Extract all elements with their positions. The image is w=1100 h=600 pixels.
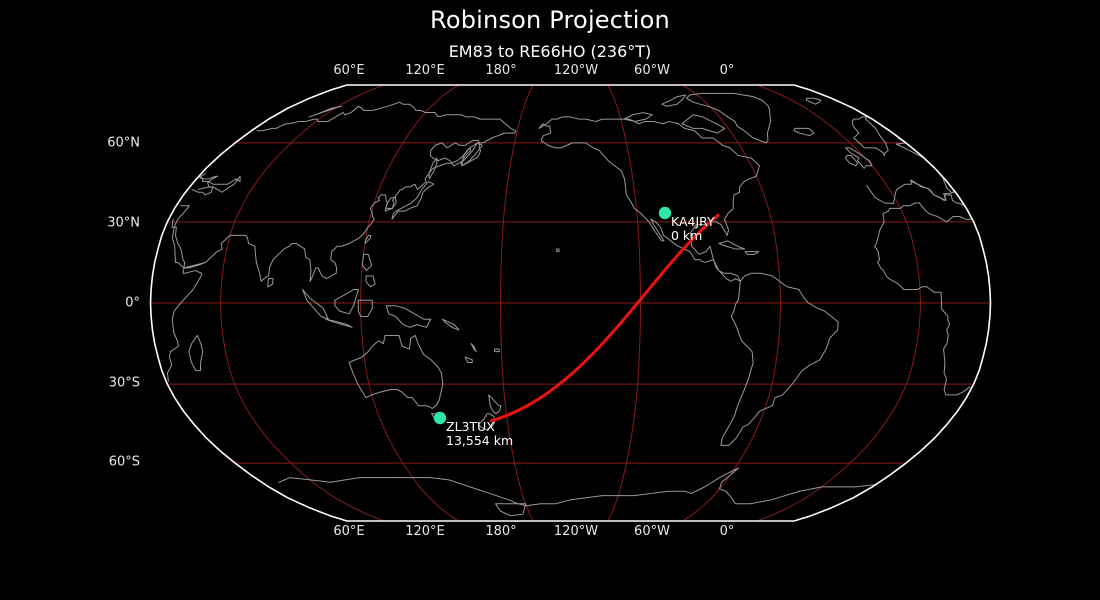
path-segment: [491, 215, 718, 421]
coast-iceland: [794, 128, 814, 135]
lat-tick--30: 30°S: [109, 376, 140, 391]
station-callsign-ka4jry: KA4JRY: [671, 214, 715, 229]
lon-tick-60: 60°E: [333, 63, 364, 78]
coast-africa-1: [167, 219, 205, 381]
lon-tick-0: 0°: [720, 63, 735, 78]
coast-fiji: [495, 349, 500, 352]
lon-tick-0: 0°: [720, 524, 735, 539]
lon-tick--120: 120°W: [554, 524, 598, 539]
lat-tick-60: 60°N: [107, 136, 140, 151]
coast-borneo: [335, 289, 359, 313]
coast-srilanka: [268, 279, 273, 287]
coast-svalbard: [806, 98, 821, 104]
coast-namerica: [539, 117, 759, 281]
lat-tick-30: 30°N: [107, 216, 140, 231]
station-distance-zl3tux: 13,554 km: [446, 433, 513, 448]
map-canvas: [0, 0, 1100, 600]
lat-tick-0: 0°: [125, 296, 140, 311]
coast-luzon: [362, 254, 371, 270]
coast-victoria: [624, 113, 652, 122]
coast-solomon: [442, 319, 459, 330]
coast-nz_north: [489, 395, 501, 414]
station-distance-ka4jry: 0 km: [671, 228, 702, 243]
coast-japan: [392, 182, 434, 220]
coast-antarctica: [526, 468, 875, 506]
coast-africa-2: [875, 203, 973, 246]
coast-africa: [875, 246, 970, 395]
coast-cuba: [719, 241, 745, 249]
graticule-layer: [151, 85, 991, 521]
coast-baffin: [682, 115, 725, 133]
station-markers: [434, 207, 671, 424]
coast-hispaniola: [745, 252, 759, 255]
lon-tick--60: 60°W: [634, 524, 670, 539]
lon-tick-180: 180°: [485, 524, 516, 539]
coast-ross: [496, 504, 526, 516]
coast-ireland: [845, 155, 857, 165]
coast-newguinea: [386, 306, 431, 328]
coast-eurasia: [867, 180, 954, 203]
robinson-projection-map: Robinson Projection EM83 to RE66HO (236°…: [0, 0, 1100, 600]
station-marker-ka4jry[interactable]: [659, 207, 671, 219]
lon-tick-120: 120°E: [405, 63, 445, 78]
coast-korea: [385, 198, 396, 211]
coast-samerica: [721, 273, 838, 445]
lon-tick-180: 180°: [485, 63, 516, 78]
coast-antarctica-1: [279, 478, 526, 506]
station-marker-zl3tux[interactable]: [434, 412, 446, 424]
coastline-layer: [167, 93, 972, 515]
lon-tick-120: 120°E: [405, 524, 445, 539]
coast-vanuatu: [471, 344, 476, 352]
station-callsign-zl3tux: ZL3TUX: [446, 419, 495, 434]
lon-tick--120: 120°W: [554, 63, 598, 78]
coast-philippines2: [366, 276, 375, 287]
coast-java: [326, 319, 352, 327]
great-circle-path: [491, 215, 718, 421]
coast-madagascar: [189, 335, 203, 370]
coast-sumatra: [303, 289, 329, 319]
coast-newcal: [465, 357, 472, 362]
lat-tick--60: 60°S: [109, 455, 140, 470]
lon-tick--60: 60°W: [634, 63, 670, 78]
coast-hawaii: [557, 249, 559, 252]
lon-tick-60: 60°E: [333, 524, 364, 539]
coast-ellesmere: [662, 95, 686, 106]
